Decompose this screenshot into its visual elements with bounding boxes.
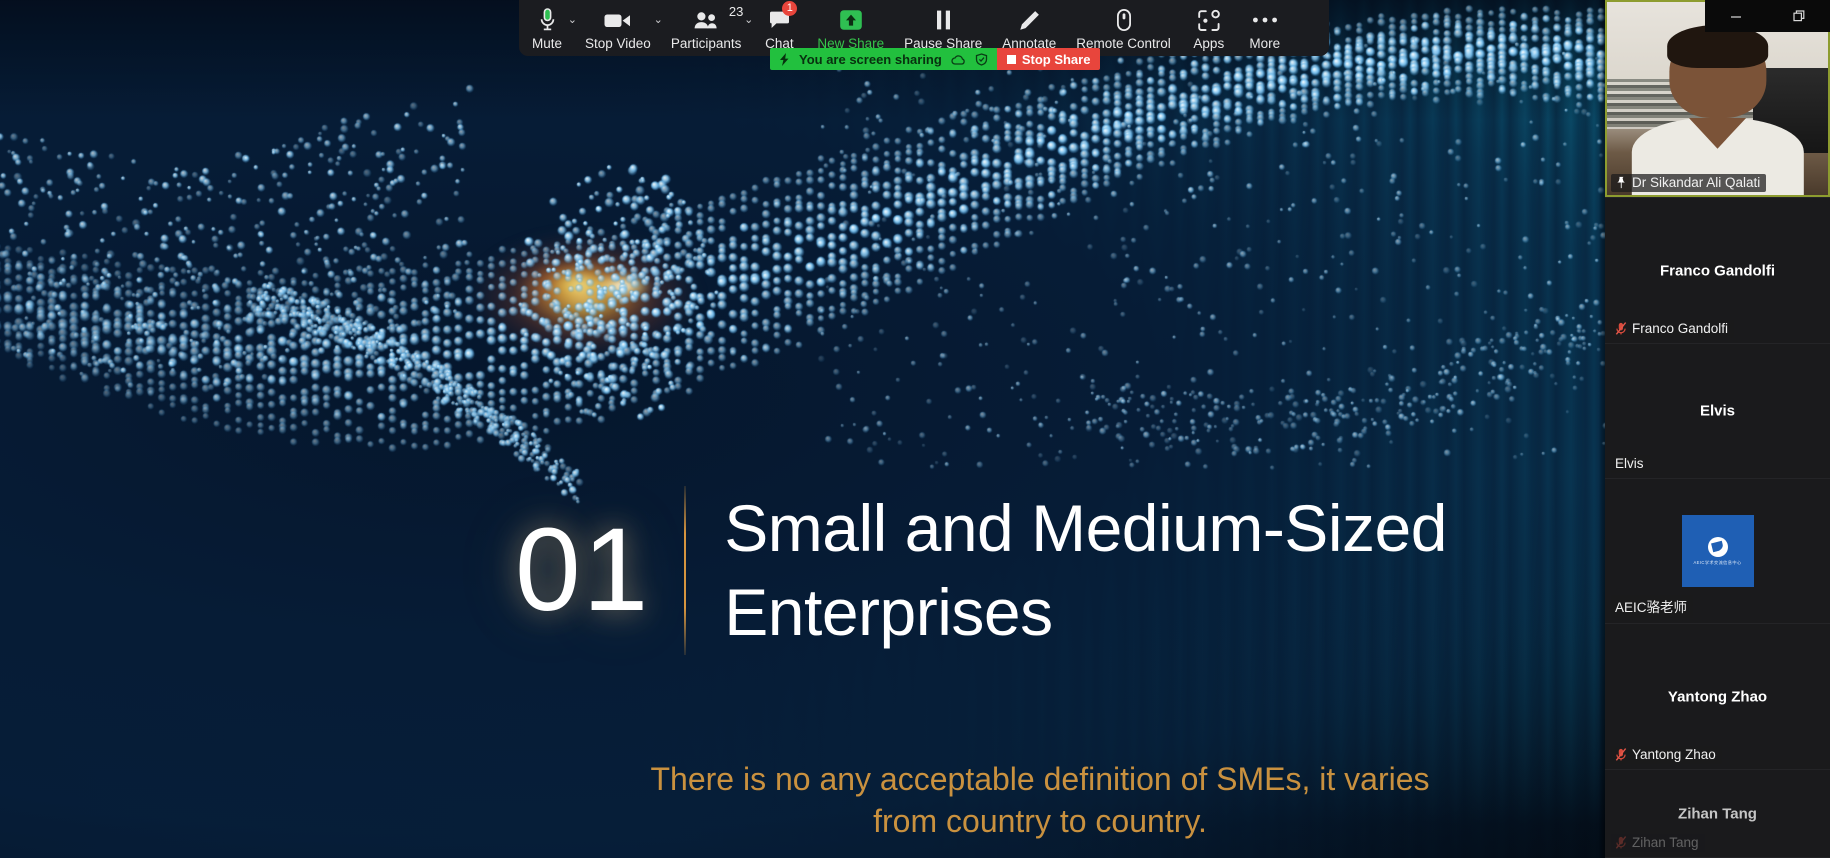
mic-muted-icon (1615, 322, 1627, 335)
share-arrow-icon (779, 53, 790, 66)
slide-title: Small and Medium-Sized Enterprises (724, 486, 1564, 655)
participant-name-label: Dr Sikandar Ali Qalati (1632, 175, 1760, 190)
particle-wave-graphic (0, 0, 1605, 858)
mic-muted-icon (1615, 836, 1627, 849)
participant-tile[interactable]: Yantong ZhaoYantong Zhao (1605, 624, 1830, 770)
stop-square-icon (1007, 55, 1016, 64)
participant-tile[interactable]: Franco GandolfiFranco Gandolfi (1605, 198, 1830, 344)
pencil-icon (1019, 7, 1040, 33)
toolbar-more-button[interactable]: More (1237, 5, 1293, 51)
toolbar-new-share-button[interactable]: New Share (807, 5, 894, 51)
participant-name-label: Franco Gandolfi (1632, 321, 1728, 336)
toolbar-participants-label: Participants (671, 36, 742, 51)
pause-icon (935, 7, 952, 33)
toolbar-chat-button[interactable]: Chat1 (751, 5, 807, 51)
microphone-icon (539, 7, 556, 33)
participant-avatar-logo: AEIC学术交流信息中心 (1682, 515, 1754, 587)
participant-name-label: Yantong Zhao (1632, 747, 1716, 762)
toolbar-stop-video-label: Stop Video (585, 36, 651, 51)
slide-divider (684, 486, 686, 655)
participant-name-label: AEIC骆老师 (1615, 596, 1687, 616)
toolbar-pause-share-button[interactable]: Pause Share (894, 5, 992, 51)
participant-name-bar: Zihan Tang (1611, 834, 1705, 852)
participant-name-bar: Franco Gandolfi (1611, 320, 1734, 338)
toolbar-mute-button[interactable]: Mute⌄ (519, 5, 575, 51)
chat-unread-badge: 1 (782, 1, 797, 16)
toolbar-stop-video-button[interactable]: Stop Video⌄ (575, 5, 661, 51)
stop-share-label: Stop Share (1022, 52, 1091, 67)
share-screen-icon (839, 7, 863, 33)
screen-share-status-bar: You are screen sharing Stop Share (770, 48, 1100, 70)
slide-heading-group: 01 Small and Medium-Sized Enterprises (515, 486, 1564, 655)
participant-display-name: Yantong Zhao (1605, 688, 1830, 705)
pin-icon (1615, 176, 1627, 189)
participant-name-bar: Dr Sikandar Ali Qalati (1611, 174, 1766, 192)
shield-icon (975, 53, 988, 66)
participants-count: 23 (729, 4, 743, 19)
participants-filmstrip[interactable]: Dr Sikandar Ali QalatiFranco GandolfiFra… (1605, 0, 1830, 858)
cloud-icon (951, 54, 966, 65)
participant-display-name: Zihan Tang (1605, 805, 1830, 822)
participant-display-name: Elvis (1605, 403, 1830, 420)
slide-number: 01 (515, 511, 684, 629)
participant-name-bar: AEIC骆老师 (1611, 595, 1693, 618)
participant-tile[interactable]: AEIC学术交流信息中心AEIC骆老师 (1605, 479, 1830, 624)
sharing-indicator: You are screen sharing (770, 48, 997, 70)
video-camera-icon (604, 7, 631, 33)
mic-muted-icon (1615, 748, 1627, 761)
aeic-logo-text: AEIC学术交流信息中心 (1693, 560, 1741, 566)
people-icon (694, 7, 719, 33)
aeic-logo-icon (1708, 537, 1728, 557)
toolbar-more-label: More (1249, 36, 1280, 51)
ellipsis-icon (1252, 7, 1278, 33)
restore-button[interactable] (1779, 4, 1819, 28)
participant-name-label: Zihan Tang (1632, 835, 1699, 850)
window-controls (1705, 0, 1830, 32)
minimize-button[interactable] (1716, 4, 1756, 28)
toolbar-remote-control-button[interactable]: Remote Control (1066, 5, 1181, 51)
toolbar-annotate-button[interactable]: Annotate (992, 5, 1066, 51)
toolbar-participants-button[interactable]: Participants⌄23 (661, 5, 752, 51)
stop-share-button[interactable]: Stop Share (997, 48, 1101, 70)
participant-display-name: Franco Gandolfi (1605, 262, 1830, 279)
participant-tile[interactable]: Zihan TangZihan Tang (1605, 770, 1830, 858)
apps-icon (1197, 7, 1221, 33)
participant-name-label: Elvis (1615, 456, 1644, 471)
participant-name-bar: Elvis (1611, 455, 1650, 473)
toolbar-apps-label: Apps (1193, 36, 1224, 51)
slide-subtitle: There is no any acceptable definition of… (640, 758, 1440, 842)
participant-name-bar: Yantong Zhao (1611, 746, 1722, 764)
toolbar-apps-button[interactable]: Apps (1181, 5, 1237, 51)
shared-screen-stage[interactable]: 01 Small and Medium-Sized Enterprises Th… (0, 0, 1605, 858)
participant-tile[interactable]: ElvisElvis (1605, 344, 1830, 479)
sharing-status-text: You are screen sharing (799, 52, 942, 67)
zoom-meeting-window: 01 Small and Medium-Sized Enterprises Th… (0, 0, 1830, 858)
remote-mouse-icon (1117, 7, 1131, 33)
toolbar-mute-label: Mute (532, 36, 562, 51)
